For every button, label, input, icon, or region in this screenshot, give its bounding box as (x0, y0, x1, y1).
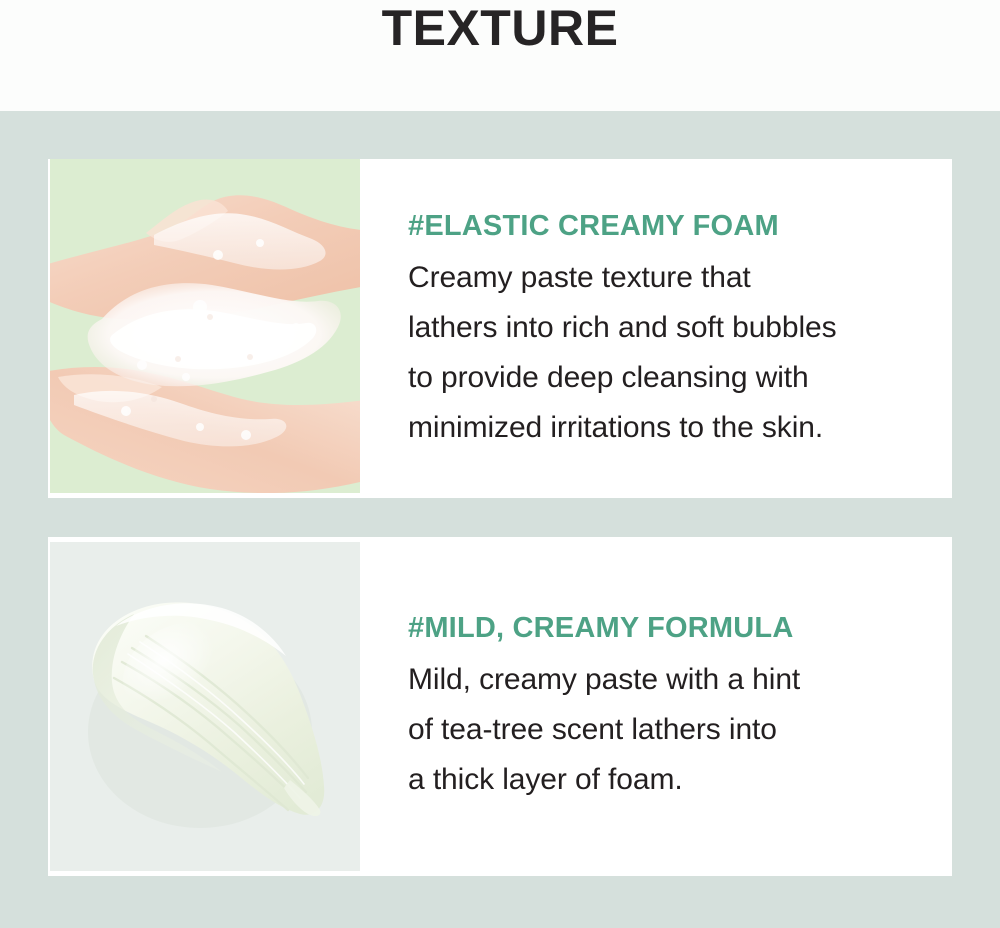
description-line: Mild, creamy paste with a hint (408, 655, 924, 705)
feature-card-elastic-creamy-foam: #ELASTIC CREAMY FOAM Creamy paste textur… (48, 159, 952, 498)
card-image-hands-foam (50, 159, 360, 493)
card-image-cream-swatch (50, 542, 360, 871)
feature-card-mild-creamy-formula: #MILD, CREAMY FORMULA Mild, creamy paste… (48, 537, 952, 876)
page-title: TEXTURE (382, 0, 619, 54)
description-line: minimized irritations to the skin. (408, 403, 924, 453)
description-line: of tea-tree scent lathers into (408, 705, 924, 755)
description-line: to provide deep cleansing with (408, 353, 924, 403)
description-line: a thick layer of foam. (408, 755, 924, 805)
texture-section: TEXTURE (0, 0, 1000, 928)
description-line: Creamy paste texture that (408, 253, 924, 303)
cream-swatch-photo (50, 542, 360, 871)
card-heading: #ELASTIC CREAMY FOAM (408, 209, 924, 243)
card-body-elastic-creamy-foam: #ELASTIC CREAMY FOAM Creamy paste textur… (360, 159, 952, 498)
header-band: TEXTURE (0, 0, 1000, 111)
hands-foam-photo (50, 159, 360, 493)
card-heading: #MILD, CREAMY FORMULA (408, 611, 924, 645)
card-body-mild-creamy-formula: #MILD, CREAMY FORMULA Mild, creamy paste… (360, 537, 952, 876)
card-description: Creamy paste texture that lathers into r… (408, 253, 924, 453)
card-description: Mild, creamy paste with a hint of tea-tr… (408, 655, 924, 805)
description-line: lathers into rich and soft bubbles (408, 303, 924, 353)
